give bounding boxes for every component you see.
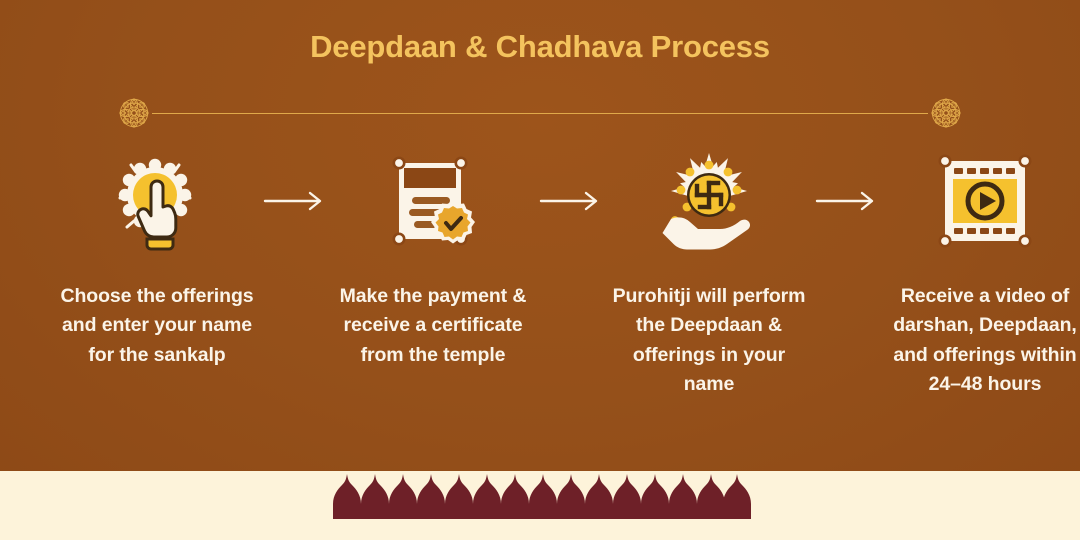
mandala-rosette-icon	[924, 93, 968, 133]
process-step-label: Make the payment & receive a certificate…	[332, 282, 534, 370]
process-steps: Choose the offerings and enter your name…	[56, 148, 1024, 399]
process-step-4[interactable]: Receive a video of darshan, Deepdaan, an…	[884, 148, 1080, 399]
arrow-right-icon	[810, 148, 884, 254]
divider	[112, 93, 968, 133]
hand-tap-select-icon	[111, 148, 203, 254]
mandala-rosette-icon	[112, 93, 156, 133]
hand-offering-coin-icon	[659, 148, 759, 254]
process-step-1[interactable]: Choose the offerings and enter your name…	[56, 148, 258, 370]
footer-band	[0, 471, 1080, 540]
header: Deepdaan & Chadhava Process	[0, 30, 1080, 64]
process-step-label: Receive a video of darshan, Deepdaan, an…	[884, 282, 1080, 399]
process-step-2[interactable]: Make the payment & receive a certificate…	[332, 148, 534, 370]
process-step-3[interactable]: Purohitji will perform the Deepdaan & of…	[608, 148, 810, 399]
divider-line	[152, 113, 928, 114]
arrow-right-icon	[534, 148, 608, 254]
video-film-play-icon	[935, 148, 1035, 254]
page-title: Deepdaan & Chadhava Process	[0, 30, 1080, 64]
certificate-seal-icon	[385, 148, 481, 254]
process-step-label: Choose the offerings and enter your name…	[56, 282, 258, 370]
process-step-label: Purohitji will perform the Deepdaan & of…	[608, 282, 810, 399]
temple-dome-row-icon	[333, 474, 751, 519]
arrow-right-icon	[258, 148, 332, 254]
infographic-canvas: Deepdaan & Chadhava Process	[0, 0, 1080, 540]
